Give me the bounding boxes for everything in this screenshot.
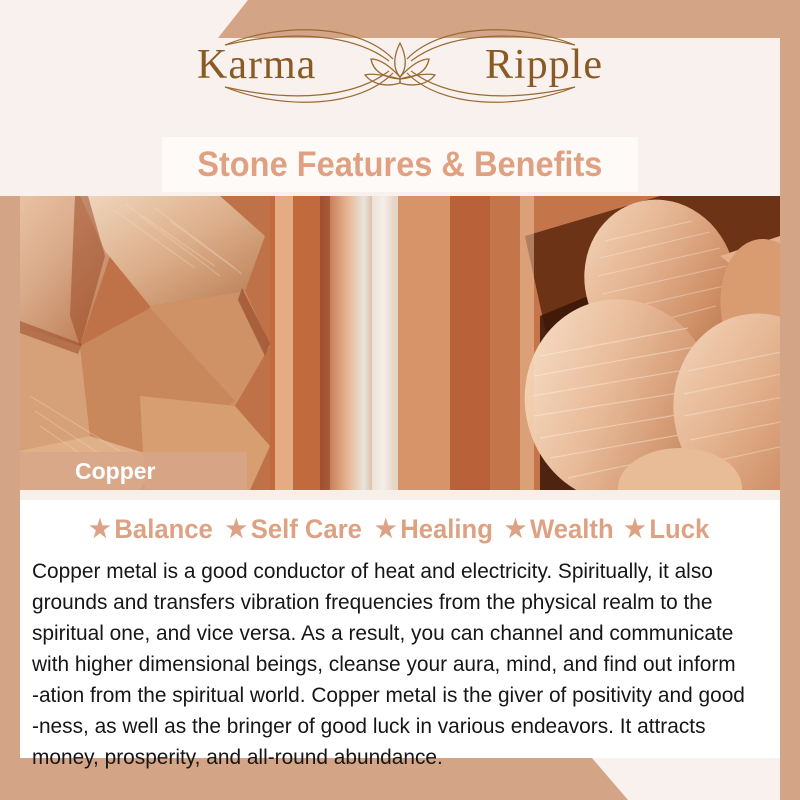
star-icon: ★ bbox=[624, 517, 645, 542]
benefit-item-balance: ★ Balance bbox=[88, 514, 217, 545]
title-band: Stone Features & Benefits bbox=[162, 137, 638, 192]
brand-logo: Karma Ripple bbox=[0, 0, 800, 130]
benefit-label: Self Care bbox=[251, 514, 362, 545]
description-line: -ation from the spiritual world. Copper … bbox=[32, 680, 750, 711]
benefit-item-wealth: ★ Wealth bbox=[503, 514, 617, 545]
description-line: Copper metal is a good conductor of heat… bbox=[32, 556, 750, 587]
frame-left-accent bbox=[0, 196, 20, 800]
description-line: -ness, as well as the bringer of good lu… bbox=[32, 711, 750, 742]
copper-photo bbox=[20, 196, 780, 490]
stone-name-label: Copper bbox=[20, 452, 247, 490]
benefit-item-self-care: ★ Self Care bbox=[224, 514, 366, 545]
stone-name-text: Copper bbox=[20, 458, 156, 485]
brand-logo-wrap: Karma Ripple bbox=[165, 15, 635, 115]
brand-name: Karma Ripple bbox=[165, 15, 635, 115]
description-block: Copper metal is a good conductor of heat… bbox=[32, 556, 750, 773]
poster-root: Karma Ripple Stone Features & Benefits bbox=[0, 0, 800, 800]
description-line: grounds and transfers vibration frequenc… bbox=[32, 587, 750, 618]
benefit-label: Wealth bbox=[530, 514, 614, 545]
benefit-label: Luck bbox=[650, 514, 710, 545]
star-icon: ★ bbox=[375, 517, 396, 542]
page-title: Stone Features & Benefits bbox=[197, 145, 602, 185]
card-top-strip bbox=[20, 490, 780, 500]
benefit-item-luck: ★ Luck bbox=[623, 514, 714, 545]
benefit-label: Balance bbox=[115, 514, 213, 545]
brand-name-right: Ripple bbox=[485, 41, 603, 89]
benefit-label: Healing bbox=[400, 514, 493, 545]
description-line: money, prosperity, and all-round abundan… bbox=[32, 742, 750, 773]
copper-bars-illustration bbox=[20, 196, 780, 490]
star-icon: ★ bbox=[226, 517, 247, 542]
description-line: with higher dimensional beings, cleanse … bbox=[32, 649, 750, 680]
brand-name-left: Karma bbox=[197, 41, 316, 89]
star-icon: ★ bbox=[90, 517, 111, 542]
description-line: spiritual one, and vice versa. As a resu… bbox=[32, 618, 750, 649]
star-icon: ★ bbox=[505, 517, 526, 542]
benefits-row: ★ Balance ★ Self Care ★ Healing ★ Wealth… bbox=[20, 508, 780, 550]
benefit-item-healing: ★ Healing bbox=[373, 514, 496, 545]
